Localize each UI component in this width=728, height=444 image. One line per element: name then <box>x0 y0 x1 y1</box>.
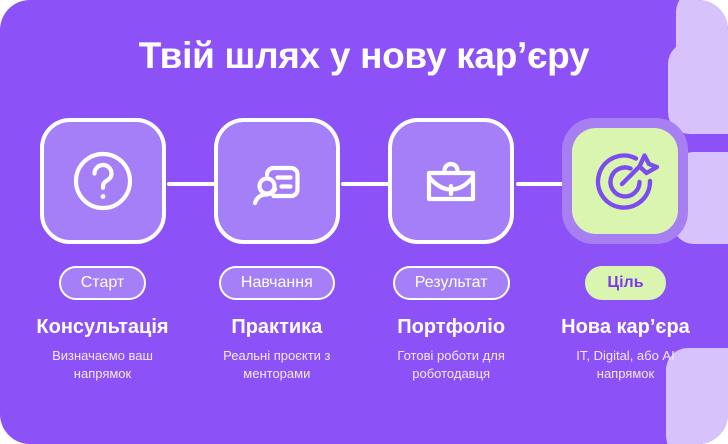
step-2-description: Реальні проєкти з менторами <box>210 347 343 382</box>
step-3-description: Готові роботи для роботодавця <box>385 347 518 382</box>
step-4-icon-card[interactable] <box>562 118 688 244</box>
step-3-icon-card[interactable] <box>388 118 514 244</box>
infographic-banner: Твій шлях у нову кар’єру Старт Консульта… <box>0 0 728 444</box>
step-2-pill[interactable]: Навчання <box>219 266 335 300</box>
mentor-chat-icon <box>240 144 314 218</box>
step-4-description: IT, Digital, або AI напрямок <box>559 347 692 382</box>
step-4-accent-tile <box>572 128 678 234</box>
step-1-description: Визначаємо ваш напрямок <box>36 347 169 382</box>
question-mark-circle-icon <box>66 144 140 218</box>
step-2: Навчання Практика Реальні проєкти з мент… <box>210 118 343 382</box>
page-title: Твій шлях у нову кар’єру <box>0 36 728 77</box>
step-1-icon-card[interactable] <box>40 118 166 244</box>
step-1-pill[interactable]: Старт <box>59 266 146 300</box>
step-4-pill[interactable]: Ціль <box>585 266 665 300</box>
briefcase-icon <box>414 144 488 218</box>
step-1: Старт Консультація Визначаємо ваш напрям… <box>36 118 169 382</box>
target-arrow-icon <box>589 145 661 217</box>
step-2-icon-card[interactable] <box>214 118 340 244</box>
step-4-heading: Нова кар’єра <box>561 316 690 339</box>
step-1-heading: Консультація <box>36 316 168 339</box>
step-4: Ціль Нова кар’єра IT, Digital, або AI на… <box>559 118 692 382</box>
steps-row: Старт Консультація Визначаємо ваш напрям… <box>0 118 728 382</box>
step-3: Результат Портфоліо Готові роботи для ро… <box>385 118 518 382</box>
step-3-pill[interactable]: Результат <box>393 266 510 300</box>
step-2-heading: Практика <box>231 316 322 339</box>
step-3-heading: Портфоліо <box>397 316 505 339</box>
